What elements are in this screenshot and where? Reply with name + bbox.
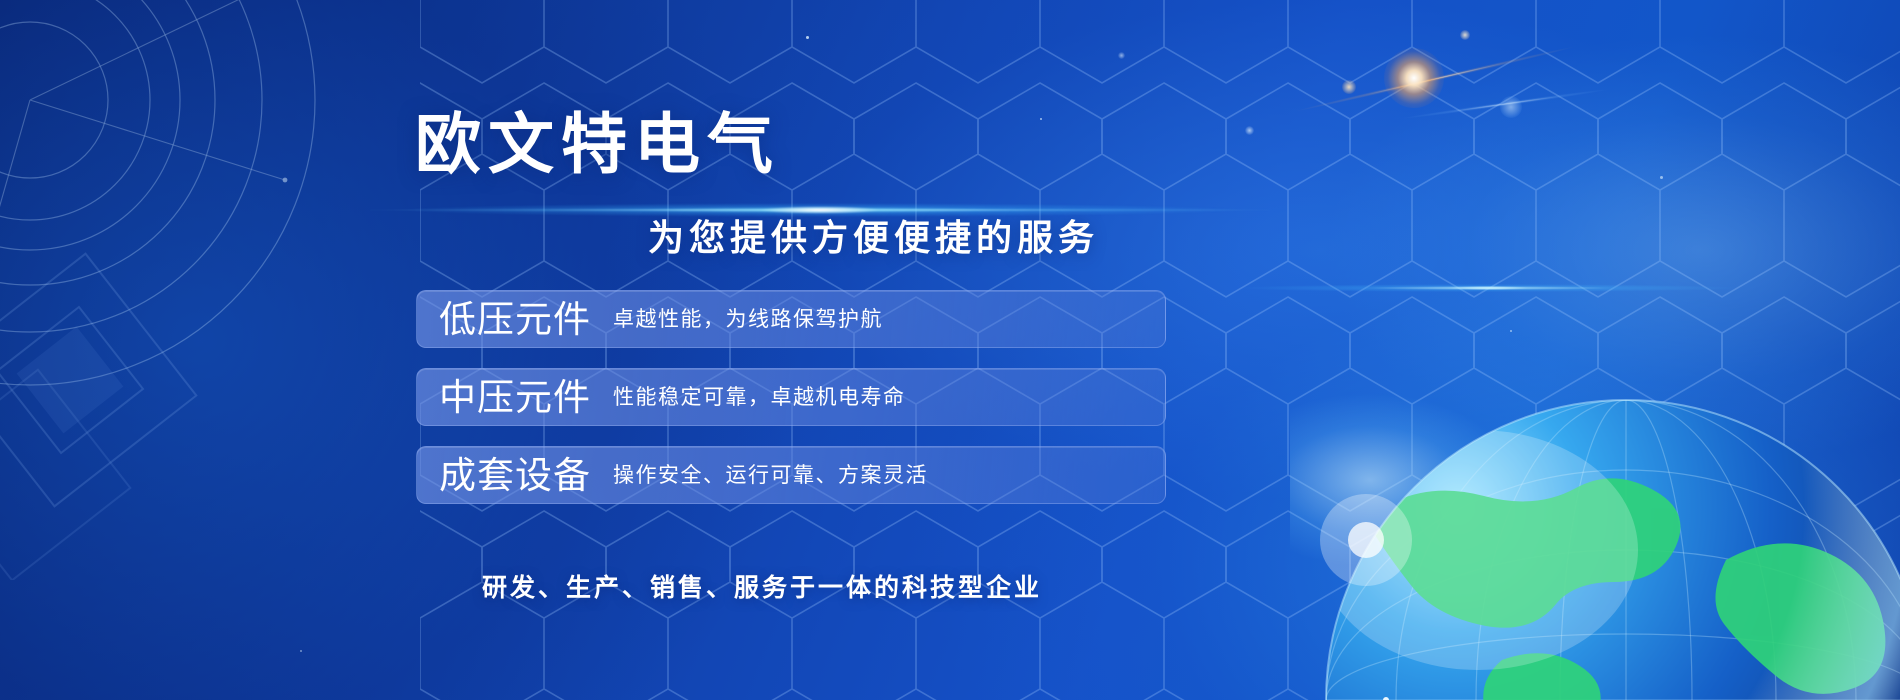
feature-bar-low-voltage[interactable]: 低压元件 卓越性能，为线路保驾护航	[416, 290, 1166, 348]
feature-bar-complete-equipment[interactable]: 成套设备 操作安全、运行可靠、方案灵活	[416, 446, 1166, 504]
feature-bar-title: 中压元件	[439, 379, 591, 416]
tagline: 研发、生产、销售、服务于一体的科技型企业	[482, 575, 1042, 600]
feature-bar-title: 成套设备	[439, 457, 591, 494]
feature-bar-medium-voltage[interactable]: 中压元件 性能稳定可靠，卓越机电寿命	[416, 368, 1166, 426]
feature-bar-description: 性能稳定可靠，卓越机电寿命	[613, 387, 906, 408]
hero-banner: 10101101001011010010 0101101001011010010…	[0, 0, 1900, 700]
banner-content: 欧文特电气 为您提供方便便捷的服务 低压元件 卓越性能，为线路保驾护航 中压元件…	[0, 0, 1900, 700]
feature-bar-description: 操作安全、运行可靠、方案灵活	[613, 465, 928, 486]
page-title: 欧文特电气	[415, 112, 780, 178]
page-subtitle: 为您提供方便便捷的服务	[648, 221, 1099, 257]
feature-bar-title: 低压元件	[439, 301, 591, 338]
feature-bar-description: 卓越性能，为线路保驾护航	[613, 309, 883, 330]
feature-bar-list: 低压元件 卓越性能，为线路保驾护航 中压元件 性能稳定可靠，卓越机电寿命 成套设…	[416, 290, 1166, 524]
